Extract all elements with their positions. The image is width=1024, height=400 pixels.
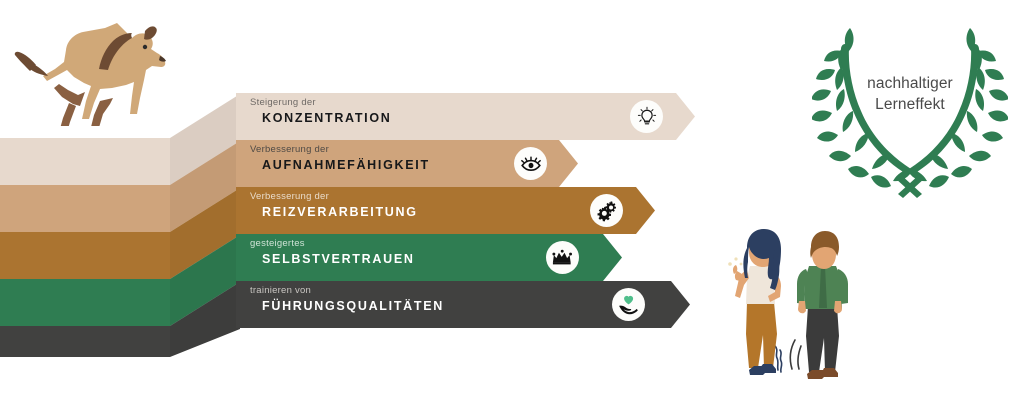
banner-title: KONZENTRATION xyxy=(250,112,392,125)
benefit-staircase xyxy=(0,85,260,370)
banner-text: gesteigertes SELBSTVERTRAUEN xyxy=(250,239,415,265)
eye-icon xyxy=(514,147,547,180)
two-people-illustration xyxy=(716,228,862,388)
laurel-caption-line2: Lerneffekt xyxy=(875,96,945,113)
banner-text: Verbesserung der REIZVERARBEITUNG xyxy=(250,192,418,218)
banner-title: REIZVERARBEITUNG xyxy=(250,206,418,219)
banner-subtitle: trainieren von xyxy=(250,286,444,296)
banner-aufnahmefaehigkeit[interactable]: Verbesserung der AUFNAHMEFÄHIGKEIT xyxy=(236,140,578,187)
banner-reizverarbeitung[interactable]: Verbesserung der REIZVERARBEITUNG xyxy=(236,187,655,234)
banner-title: SELBSTVERTRAUEN xyxy=(250,253,415,266)
banner-subtitle: Steigerung der xyxy=(250,98,392,108)
lightbulb-icon xyxy=(630,100,663,133)
laurel-caption: nachhaltiger Lerneffekt xyxy=(812,74,1008,116)
banner-text: trainieren von FÜHRUNGSQUALITÄTEN xyxy=(250,286,444,312)
hand-heart-icon xyxy=(612,288,645,321)
banner-selbstvertrauen[interactable]: gesteigertes SELBSTVERTRAUEN xyxy=(236,234,622,281)
banner-fuehrungsqualitaeten[interactable]: trainieren von FÜHRUNGSQUALITÄTEN xyxy=(236,281,690,328)
banner-subtitle: Verbesserung der xyxy=(250,192,418,202)
banner-subtitle: gesteigertes xyxy=(250,239,415,249)
infographic-canvas: Steigerung der KONZENTRATION xyxy=(0,0,1024,400)
banner-konzentration[interactable]: Steigerung der KONZENTRATION xyxy=(236,93,695,140)
laurel-caption-line1: nachhaltiger xyxy=(867,75,953,92)
benefit-banner-list: Steigerung der KONZENTRATION xyxy=(236,93,716,338)
banner-text: Verbesserung der AUFNAHMEFÄHIGKEIT xyxy=(250,145,430,171)
banner-subtitle: Verbesserung der xyxy=(250,145,430,155)
banner-title: AUFNAHMEFÄHIGKEIT xyxy=(250,159,430,172)
laurel-wreath-badge: nachhaltiger Lerneffekt xyxy=(812,22,1008,198)
gears-icon xyxy=(590,194,623,227)
crown-icon xyxy=(546,241,579,274)
banner-text: Steigerung der KONZENTRATION xyxy=(250,98,392,124)
banner-title: FÜHRUNGSQUALITÄTEN xyxy=(250,300,444,313)
